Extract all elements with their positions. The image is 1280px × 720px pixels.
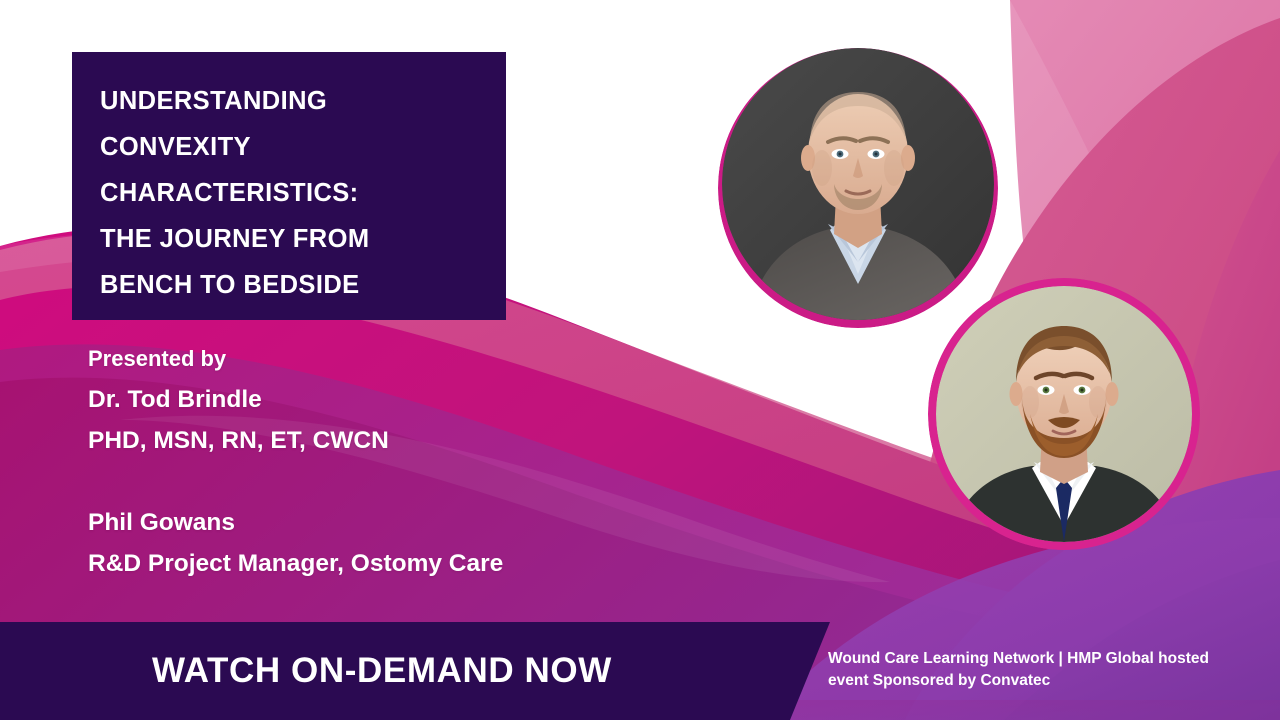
title-line-1: UNDERSTANDING — [100, 78, 478, 124]
presented-by-label: Presented by — [88, 338, 708, 379]
presenter-spacer — [88, 461, 708, 502]
sponsor-credit: Wound Care Learning Network | HMP Global… — [828, 648, 1248, 692]
presenters-block: Presented by Dr. Tod Brindle PHD, MSN, R… — [88, 338, 708, 584]
portrait-illustration — [936, 286, 1192, 542]
presenter-2-title: R&D Project Manager, Ostomy Care — [88, 543, 708, 584]
promo-graphic-canvas: UNDERSTANDING CONVEXITY CHARACTERISTICS:… — [0, 0, 1280, 720]
headshot-tod-brindle — [718, 48, 998, 328]
title-card: UNDERSTANDING CONVEXITY CHARACTERISTICS:… — [72, 52, 506, 320]
presenter-1-credentials: PHD, MSN, RN, ET, CWCN — [88, 420, 708, 461]
headshot-phil-gowans — [928, 278, 1200, 550]
title-line-5: BENCH TO BEDSIDE — [100, 262, 478, 308]
title-line-2: CONVEXITY — [100, 124, 478, 170]
watch-on-demand-banner[interactable]: WATCH ON-DEMAND NOW — [0, 622, 830, 720]
cta-label: WATCH ON-DEMAND NOW — [152, 651, 612, 691]
presenter-2-name: Phil Gowans — [88, 502, 708, 543]
portrait-illustration — [722, 48, 994, 320]
sponsor-line-2: event Sponsored by Convatec — [828, 670, 1248, 692]
headshot-photo — [722, 48, 994, 320]
title-line-4: THE JOURNEY FROM — [100, 216, 478, 262]
sponsor-line-1: Wound Care Learning Network | HMP Global… — [828, 648, 1248, 670]
headshot-photo — [936, 286, 1192, 542]
title-line-3: CHARACTERISTICS: — [100, 170, 478, 216]
presenter-1-name: Dr. Tod Brindle — [88, 379, 708, 420]
